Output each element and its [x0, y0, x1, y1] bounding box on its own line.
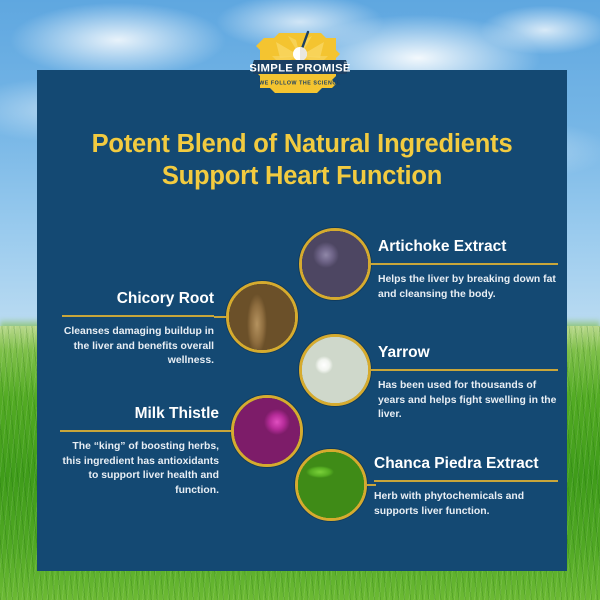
chicory-root-photo-image [229, 284, 295, 350]
yarrow-photo-image [302, 337, 368, 403]
ingredient-description-milk-thistle: The “king” of boosting herbs, this ingre… [60, 440, 219, 499]
ingredient-text-chicory-root: Chicory Root Cleanses damaging buildup i… [62, 290, 214, 369]
ingredient-text-milk-thistle: Milk Thistle The “king” of boosting herb… [60, 405, 219, 499]
connector-line-milk-thistle [219, 430, 231, 432]
ingredient-description-yarrow: Has been used for thousands of years and… [378, 379, 558, 423]
ingredient-text-chanca-piedra: Chanca Piedra Extract Herb with phytoche… [374, 455, 558, 519]
connector-line-chicory-root [214, 316, 226, 318]
chanca-piedra-photo-image [298, 452, 364, 518]
milk-thistle-photo-image [234, 398, 300, 464]
ingredient-name-milk-thistle: Milk Thistle [60, 405, 219, 423]
ingredient-description-chicory-root: Cleanses damaging buildup in the liver a… [62, 325, 214, 369]
infographic-canvas: SIMPLE PROMISE ™ WE FOLLOW THE SCIENCE P… [0, 0, 600, 600]
page-title: Potent Blend of Natural Ingredients Supp… [47, 128, 557, 192]
ingredient-name-chanca-piedra: Chanca Piedra Extract [374, 455, 558, 473]
ingredient-rule-chicory-root [62, 315, 214, 317]
page-title-line-1: Potent Blend of Natural Ingredients [47, 128, 557, 160]
ingredient-name-yarrow: Yarrow [378, 344, 558, 362]
ingredient-rule-milk-thistle [60, 430, 219, 432]
artichoke-photo-image [302, 231, 368, 297]
ingredient-name-artichoke: Artichoke Extract [378, 238, 558, 256]
chicory-root-photo [226, 281, 298, 353]
ingredient-description-artichoke: Helps the liver by breaking down fat and… [378, 273, 558, 303]
chanca-piedra-photo [295, 449, 367, 521]
logo-trademark-mark: ™ [344, 61, 348, 66]
logo-wordmark: SIMPLE PROMISE [250, 62, 350, 74]
simple-promise-logo: SIMPLE PROMISE ™ WE FOLLOW THE SCIENCE [250, 26, 350, 98]
page-title-line-2: Support Heart Function [47, 160, 557, 192]
ingredient-text-artichoke: Artichoke Extract Helps the liver by bre… [378, 238, 558, 302]
ingredient-text-yarrow: Yarrow Has been used for thousands of ye… [378, 344, 558, 423]
milk-thistle-photo [231, 395, 303, 467]
logo-tagline: WE FOLLOW THE SCIENCE [259, 81, 341, 87]
ingredient-name-chicory-root: Chicory Root [62, 290, 214, 308]
ingredient-rule-yarrow [378, 369, 558, 371]
artichoke-photo [299, 228, 371, 300]
ingredient-rule-artichoke [378, 263, 558, 265]
ingredient-rule-chanca-piedra [374, 480, 558, 482]
ingredient-description-chanca-piedra: Herb with phytochemicals and supports li… [374, 490, 558, 520]
yarrow-photo [299, 334, 371, 406]
